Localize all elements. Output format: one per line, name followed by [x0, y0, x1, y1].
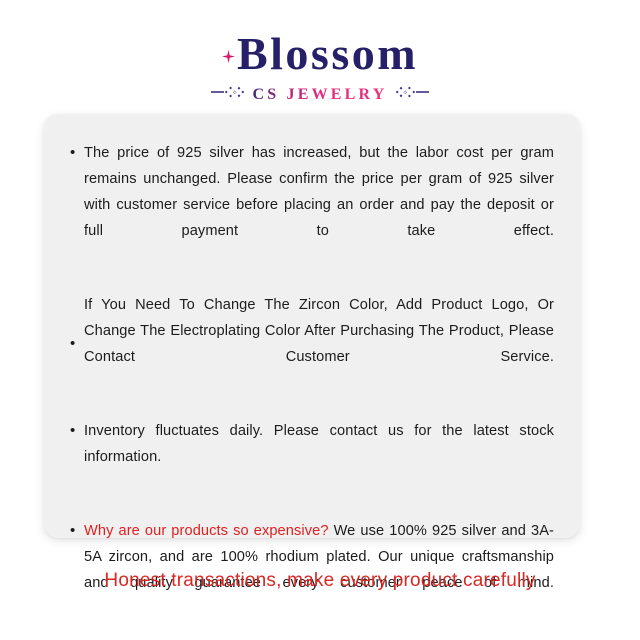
footer-tagline: Honest transactions, make every product … [0, 570, 640, 592]
notice-item-customization: • If You Need To Change The Zircon Color… [70, 292, 554, 396]
diamond-sparkle-icon [222, 50, 235, 63]
notice-text: If You Need To Change The Zircon Color, … [84, 292, 554, 396]
brand-title-row: Blossom [222, 30, 418, 78]
bullet-icon: • [70, 418, 84, 444]
notice-item-inventory: • Inventory fluctuates daily. Please con… [70, 418, 554, 496]
notice-card: • The price of 925 silver has increased,… [44, 114, 580, 538]
diamond-cluster-ornament-left-icon [211, 85, 245, 104]
notice-text: Inventory fluctuates daily. Please conta… [84, 418, 554, 496]
bullet-icon: • [70, 336, 84, 351]
brand-header: Blossom CS J [0, 30, 640, 104]
bullet-icon: • [70, 140, 84, 166]
page-root: Blossom CS J [0, 0, 640, 640]
brand-subtitle-row: CS JEWELRY [0, 85, 640, 104]
notice-item-price: • The price of 925 silver has increased,… [70, 140, 554, 270]
diamond-cluster-ornament-right-icon [395, 85, 429, 104]
brand-title: Blossom [237, 30, 418, 78]
bullet-icon: • [70, 518, 84, 544]
notice-text: The price of 925 silver has increased, b… [84, 140, 554, 270]
notice-list: • The price of 925 silver has increased,… [70, 140, 554, 622]
notice-highlight: Why are our products so expensive? [84, 523, 329, 539]
brand-subtitle: CS JEWELRY [252, 86, 387, 104]
